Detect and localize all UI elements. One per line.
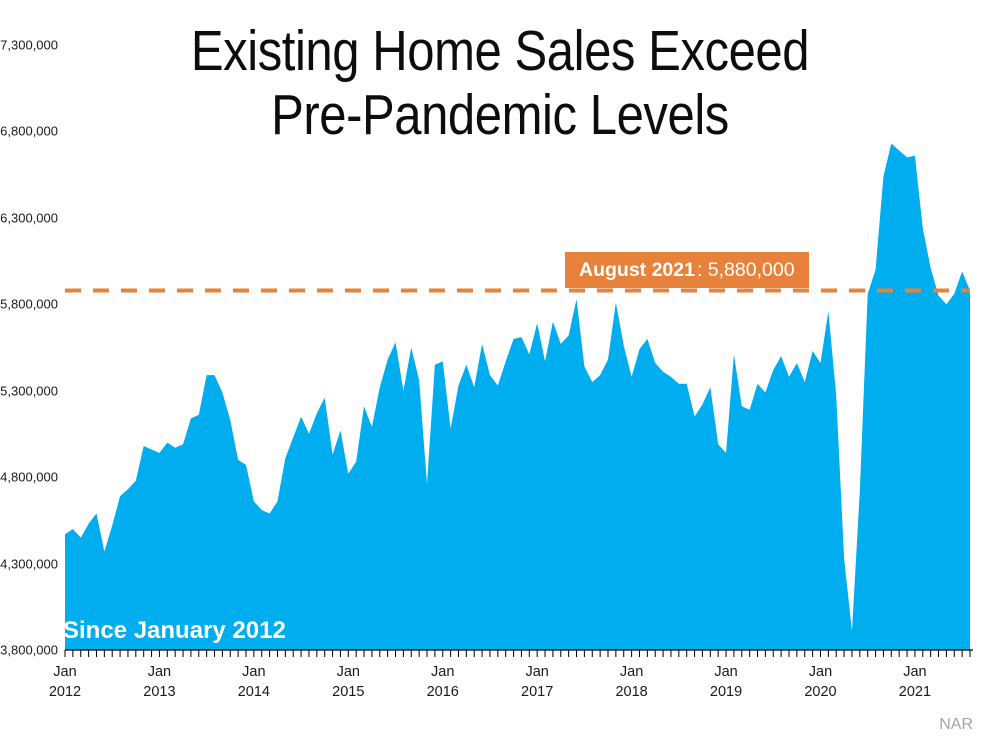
- x-axis-label-month: Jan: [691, 663, 761, 683]
- x-axis-label: Jan2012: [30, 663, 100, 702]
- x-axis-label: Jan2017: [502, 663, 572, 702]
- x-axis-label-year: 2012: [30, 683, 100, 703]
- x-axis-label-year: 2013: [124, 683, 194, 703]
- x-axis-label: Jan2014: [219, 663, 289, 702]
- x-axis-label: Jan2013: [124, 663, 194, 702]
- x-axis-label-month: Jan: [219, 663, 289, 683]
- x-axis-label-year: 2016: [408, 683, 478, 703]
- x-axis-label-month: Jan: [597, 663, 667, 683]
- source-attribution: NAR: [939, 716, 973, 734]
- y-axis-label: 3,800,000: [0, 643, 58, 658]
- y-axis-label: 4,300,000: [0, 556, 58, 571]
- x-axis-label: Jan2019: [691, 663, 761, 702]
- callout-badge: August 2021: 5,880,000: [565, 252, 809, 288]
- x-axis-label-year: 2018: [597, 683, 667, 703]
- x-axis-label: Jan2020: [785, 663, 855, 702]
- x-axis-label: Jan2021: [880, 663, 950, 702]
- x-axis-label-year: 2020: [785, 683, 855, 703]
- y-axis-label: 6,800,000: [0, 124, 58, 139]
- x-axis-label-month: Jan: [124, 663, 194, 683]
- x-axis-label-year: 2017: [502, 683, 572, 703]
- x-axis-label: Jan2016: [408, 663, 478, 702]
- x-axis-label-year: 2021: [880, 683, 950, 703]
- x-axis-label-month: Jan: [785, 663, 855, 683]
- y-axis-label: 4,800,000: [0, 470, 58, 485]
- callout-value-text: : 5,880,000: [697, 259, 795, 282]
- x-axis-label-month: Jan: [880, 663, 950, 683]
- axis-ticks: [65, 650, 970, 657]
- x-axis-label: Jan2018: [597, 663, 667, 702]
- y-axis-label: 6,300,000: [0, 210, 58, 225]
- chart-canvas: Existing Home Sales Exceed Pre-Pandemic …: [0, 0, 1000, 750]
- x-axis-label-year: 2015: [313, 683, 383, 703]
- x-axis-label-year: 2019: [691, 683, 761, 703]
- y-axis-label: 5,300,000: [0, 383, 58, 398]
- since-label: Since January 2012: [63, 617, 286, 645]
- x-axis-label-month: Jan: [30, 663, 100, 683]
- x-axis-label-month: Jan: [313, 663, 383, 683]
- x-axis-label-month: Jan: [408, 663, 478, 683]
- x-axis-label: Jan2015: [313, 663, 383, 702]
- y-axis-label: 5,800,000: [0, 297, 58, 312]
- x-axis-label-year: 2014: [219, 683, 289, 703]
- y-axis-label: 7,300,000: [0, 38, 58, 53]
- x-axis-label-month: Jan: [502, 663, 572, 683]
- area-series: [65, 144, 970, 650]
- callout-bold-text: August 2021: [579, 259, 695, 282]
